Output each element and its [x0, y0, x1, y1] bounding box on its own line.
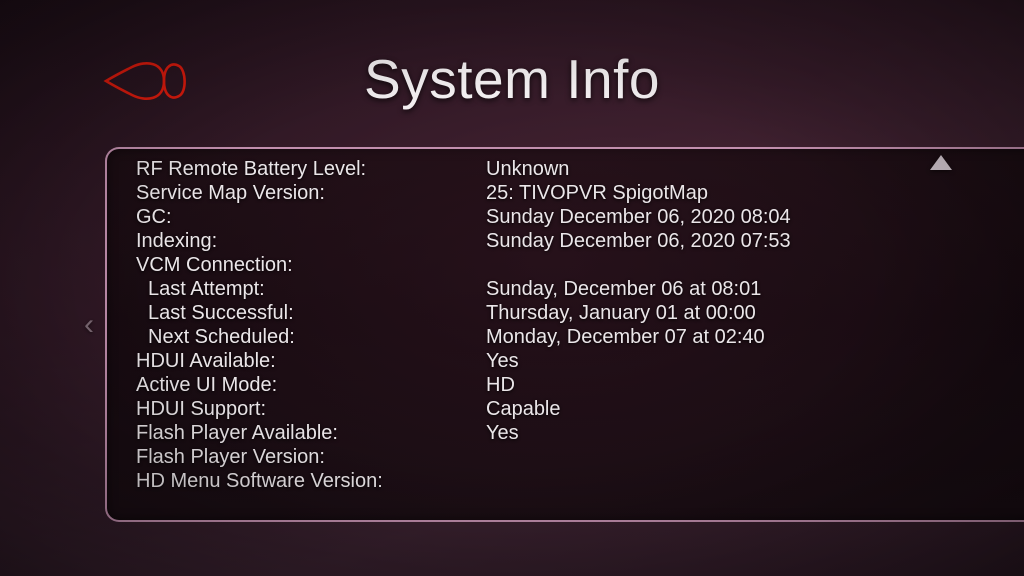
info-row-value: Unknown — [486, 157, 569, 181]
info-row-list: RF Remote Battery Level:UnknownService M… — [136, 157, 1024, 493]
info-row-value: Yes — [486, 349, 519, 373]
info-row: HDUI Support:Capable — [136, 397, 1024, 421]
info-row-label: Next Scheduled: — [148, 325, 295, 349]
info-row-value: Sunday December 06, 2020 08:04 — [486, 205, 791, 229]
info-row: Flash Player Available:Yes — [136, 421, 1024, 445]
info-row-value: Sunday December 06, 2020 07:53 — [486, 229, 791, 253]
info-row-value: Sunday, December 06 at 08:01 — [486, 277, 761, 301]
info-row: HD Menu Software Version: — [136, 469, 1024, 493]
info-row-label: RF Remote Battery Level: — [136, 157, 366, 181]
info-row-label: VCM Connection: — [136, 253, 293, 277]
info-row-label: Last Successful: — [148, 301, 294, 325]
info-row: Service Map Version:25: TIVOPVR SpigotMa… — [136, 181, 1024, 205]
info-row-label: GC: — [136, 205, 172, 229]
info-row-label: Flash Player Available: — [136, 421, 338, 445]
info-row-value: Thursday, January 01 at 00:00 — [486, 301, 756, 325]
info-row-value: Capable — [486, 397, 561, 421]
info-row-value: 25: TIVOPVR SpigotMap — [486, 181, 708, 205]
info-row-label: Service Map Version: — [136, 181, 325, 205]
info-row-label: Last Attempt: — [148, 277, 265, 301]
info-row-label: HD Menu Software Version: — [136, 469, 383, 493]
info-row: Last Successful:Thursday, January 01 at … — [136, 301, 1024, 325]
info-row: Next Scheduled:Monday, December 07 at 02… — [136, 325, 1024, 349]
info-row-label: HDUI Available: — [136, 349, 276, 373]
info-row: VCM Connection: — [136, 253, 1024, 277]
info-row-value: Yes — [486, 421, 519, 445]
info-row-value: HD — [486, 373, 515, 397]
info-row: Last Attempt:Sunday, December 06 at 08:0… — [136, 277, 1024, 301]
info-row-label: Indexing: — [136, 229, 217, 253]
info-row-value: Monday, December 07 at 02:40 — [486, 325, 765, 349]
back-chevron-icon[interactable]: ‹ — [78, 308, 100, 342]
info-row: RF Remote Battery Level:Unknown — [136, 157, 1024, 181]
page-title: System Info — [0, 47, 1024, 111]
info-row-label: Active UI Mode: — [136, 373, 277, 397]
system-info-panel: RF Remote Battery Level:UnknownService M… — [105, 147, 1024, 522]
scroll-up-icon[interactable] — [930, 155, 952, 170]
info-row: HDUI Available:Yes — [136, 349, 1024, 373]
info-row: GC:Sunday December 06, 2020 08:04 — [136, 205, 1024, 229]
info-row: Indexing:Sunday December 06, 2020 07:53 — [136, 229, 1024, 253]
info-row: Active UI Mode:HD — [136, 373, 1024, 397]
info-row: Flash Player Version: — [136, 445, 1024, 469]
info-row-label: HDUI Support: — [136, 397, 266, 421]
info-row-label: Flash Player Version: — [136, 445, 325, 469]
system-info-screen: System Info ‹ RF Remote Battery Level:Un… — [0, 0, 1024, 576]
